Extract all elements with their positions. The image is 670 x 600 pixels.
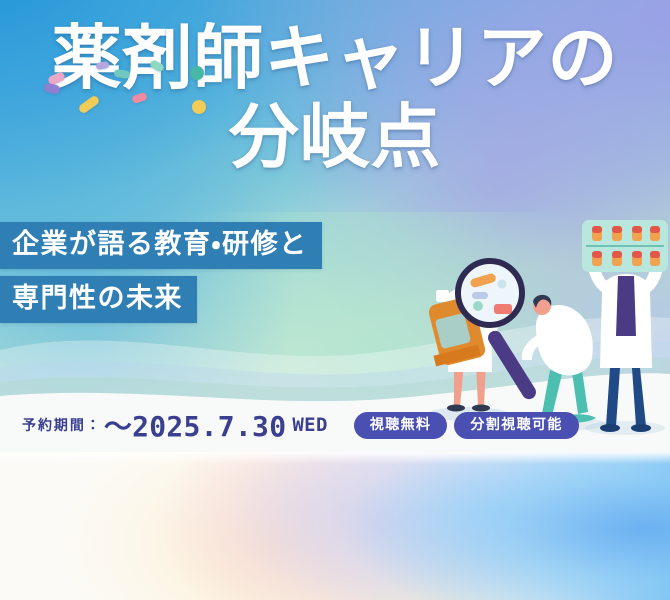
badge-split-viewing: 分割視聴可能 <box>454 412 578 439</box>
shadow-right <box>585 421 665 435</box>
banner-stage: 薬剤師キャリアの 分岐点 企業が語る教育・研修と 専門性の未来 予約期間： 〜2… <box>0 0 670 452</box>
reservation-row: 予約期間： 〜2025.7.30 WED 視聴無料 分割視聴可能 <box>22 405 579 445</box>
footer-gradient-band <box>0 452 670 600</box>
reservation-date: 〜2025.7.30 <box>104 405 287 445</box>
reservation-label: 予約期間： <box>22 415 102 435</box>
blister-pack <box>582 220 668 272</box>
pharmacist-with-blister-pack <box>582 220 668 432</box>
reservation-day: WED <box>292 414 327 436</box>
promo-banner: 薬剤師キャリアの 分岐点 企業が語る教育・研修と 専門性の未来 予約期間： 〜2… <box>0 0 670 600</box>
badge-group: 視聴無料 分割視聴可能 <box>354 412 579 439</box>
magnifier-lens <box>458 261 522 325</box>
shirt-right <box>616 276 636 336</box>
subtitle-bar-1: 企業が語る教育・研修と <box>0 222 322 269</box>
badge-free-viewing: 視聴無料 <box>354 412 448 439</box>
footer-sheen <box>0 452 670 464</box>
subtitle-bar-2: 専門性の未来 <box>0 276 197 323</box>
